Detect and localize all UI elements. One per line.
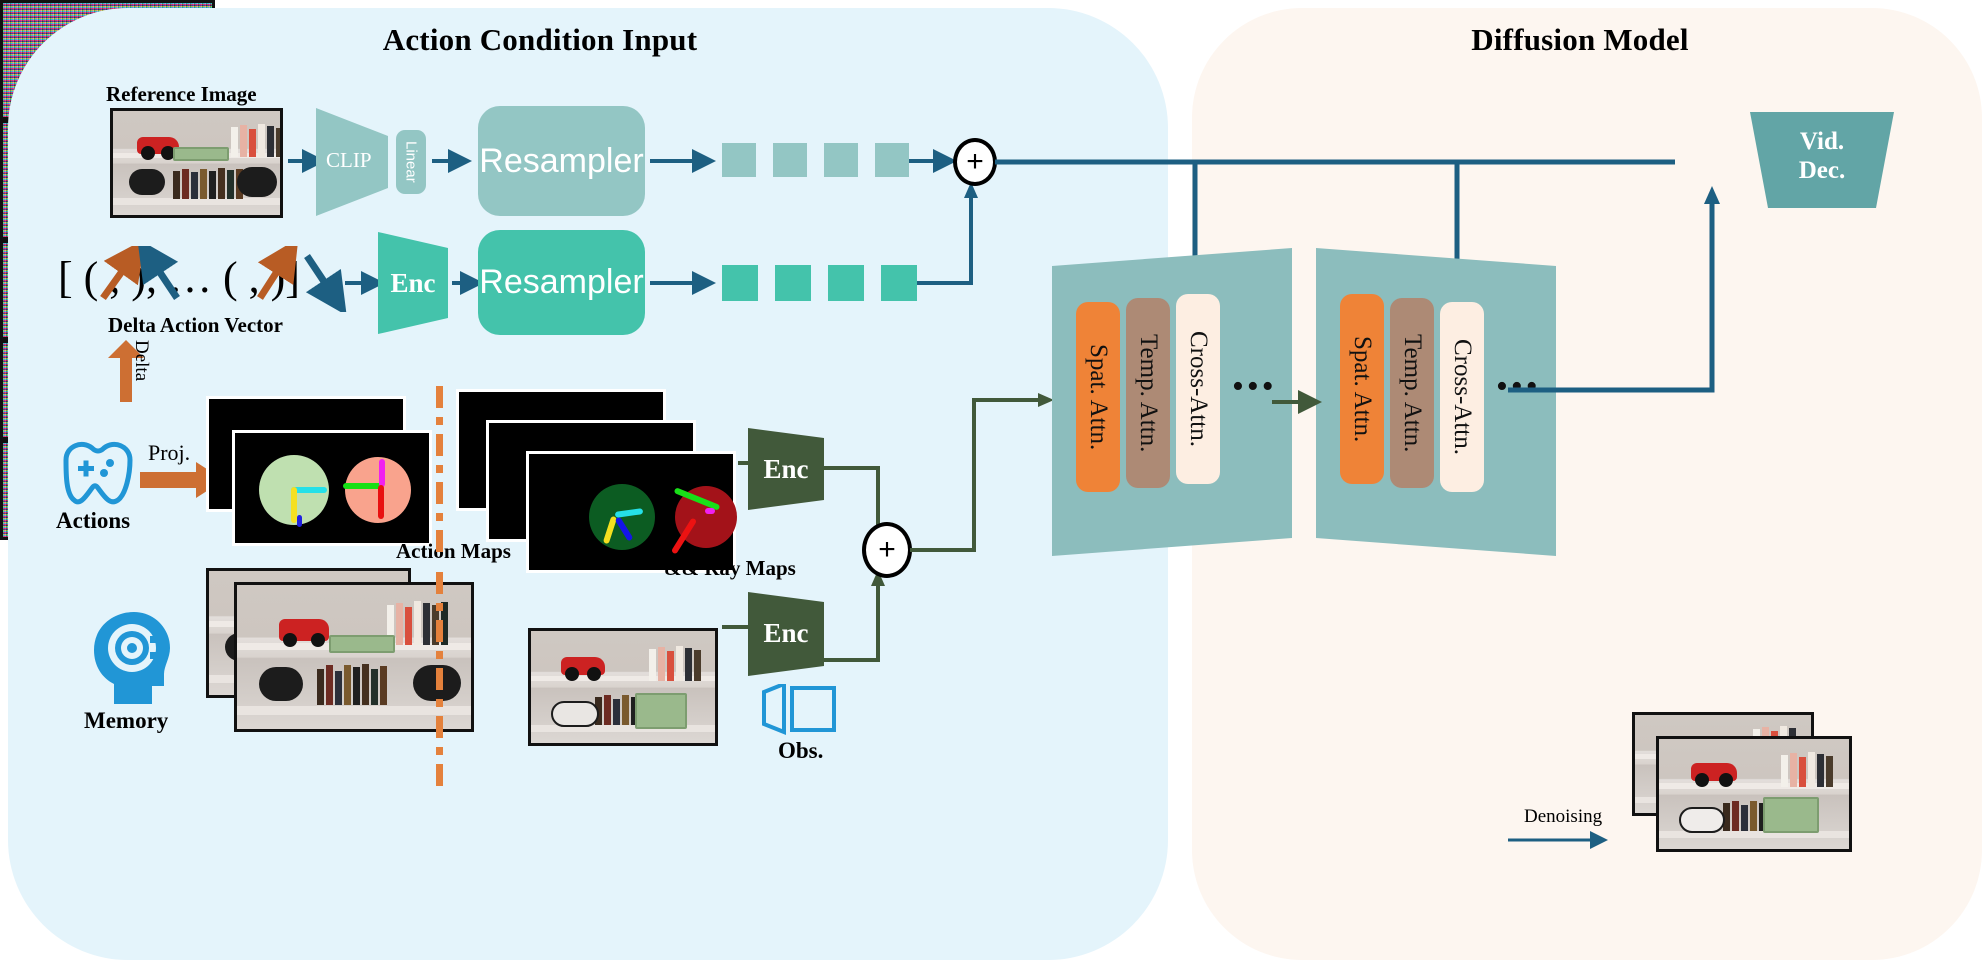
ray-map-front	[526, 451, 736, 573]
enc-raymap-label: Enc	[748, 452, 824, 486]
cross-attn-label-2: Cross-Attn.	[1448, 339, 1476, 455]
action-token	[775, 265, 811, 301]
actions-label: Actions	[56, 508, 130, 534]
camera-icon	[762, 684, 840, 736]
vid-dec-line2: Dec.	[1750, 157, 1894, 186]
action-token	[828, 265, 864, 301]
action-map-front	[232, 430, 432, 546]
action-map-stick-magenta	[379, 459, 385, 487]
image-token	[875, 143, 909, 177]
ray-map-stick-magenta	[705, 508, 715, 514]
divider-dashed-bottom	[436, 572, 443, 786]
plus-symbol: +	[966, 145, 984, 179]
denoising-label: Denoising	[1524, 806, 1602, 828]
reference-image	[110, 108, 283, 218]
page-title-right: Diffusion Model	[1380, 22, 1780, 58]
temp-attn-block-1: Temp. Attn.	[1126, 298, 1170, 488]
linear-label: Linear	[403, 141, 420, 183]
spat-attn-block-1: Spat. Attn.	[1076, 302, 1120, 492]
action-token	[722, 265, 758, 301]
clip-label: CLIP	[326, 148, 372, 173]
sum-node-latent: +	[862, 522, 912, 578]
image-token	[722, 143, 756, 177]
temp-attn-label-2: Temp. Attn.	[1398, 334, 1426, 452]
arrow-unet-to-viddec	[1498, 182, 1758, 412]
action-maps-label: Action Maps	[396, 539, 511, 564]
unet-block-1-dots: •••	[1232, 368, 1277, 406]
cross-attn-block-2: Cross-Attn.	[1440, 302, 1484, 492]
obs-clean-front	[528, 628, 718, 746]
obs-label: Obs.	[778, 738, 823, 764]
denoising-arrow	[1508, 828, 1624, 858]
action-map-stick-green	[343, 483, 383, 489]
arrow-linear-to-resampler	[432, 146, 474, 176]
temp-attn-block-2: Temp. Attn.	[1390, 298, 1434, 488]
enc-action-label: Enc	[378, 266, 448, 300]
temp-attn-label-1: Temp. Attn.	[1134, 334, 1162, 452]
arrow-latent-to-unet	[908, 384, 1068, 564]
divider-dashed-top	[436, 386, 443, 552]
delta-arrow-label: Delta	[130, 340, 152, 381]
spat-attn-label-1: Spat. Attn.	[1084, 344, 1112, 450]
denoise-output-front	[1656, 736, 1852, 852]
image-token	[773, 143, 807, 177]
spat-attn-label-2: Spat. Attn.	[1348, 336, 1376, 442]
enc-obs-label: Enc	[748, 616, 824, 650]
gamepad-icon	[52, 438, 144, 510]
cross-attn-label-1: Cross-Attn.	[1184, 331, 1212, 447]
arrow-enc-obs-to-sum	[820, 560, 920, 670]
arrow-action-tokens-to-sum	[915, 180, 995, 310]
memory-brain-icon	[76, 606, 172, 716]
cross-attn-block-1: Cross-Attn.	[1176, 294, 1220, 484]
action-vector-arrow-glyphs	[95, 246, 365, 312]
action-token	[881, 265, 917, 301]
sum-node-condition: +	[953, 138, 997, 186]
arrow-to-unet-2	[1272, 388, 1332, 418]
resampler-action-label: Resampler	[479, 263, 643, 302]
linear-block: Linear	[396, 130, 426, 194]
action-map-stick-red	[378, 485, 384, 519]
video-decoder-label: Vid. Dec.	[1750, 128, 1894, 186]
spat-attn-block-2: Spat. Attn.	[1340, 294, 1384, 484]
arrow-resampler-to-tokens-action	[650, 268, 720, 298]
vid-dec-line1: Vid.	[1750, 128, 1894, 157]
arrow-resampler-to-tokens-image	[650, 146, 720, 176]
resampler-action-block: Resampler	[478, 230, 645, 335]
action-map-stick-blue	[297, 515, 302, 527]
reference-image-label: Reference Image	[106, 82, 257, 107]
page-title-left: Action Condition Input	[330, 22, 750, 58]
ray-maps-label: && Ray Maps	[664, 556, 796, 581]
plus-symbol-latent: +	[878, 533, 896, 567]
resampler-image-block: Resampler	[478, 106, 645, 216]
delta-action-vector-label: Delta Action Vector	[108, 313, 283, 338]
resampler-image-label: Resampler	[479, 142, 643, 181]
memory-label: Memory	[84, 708, 168, 734]
image-token	[824, 143, 858, 177]
